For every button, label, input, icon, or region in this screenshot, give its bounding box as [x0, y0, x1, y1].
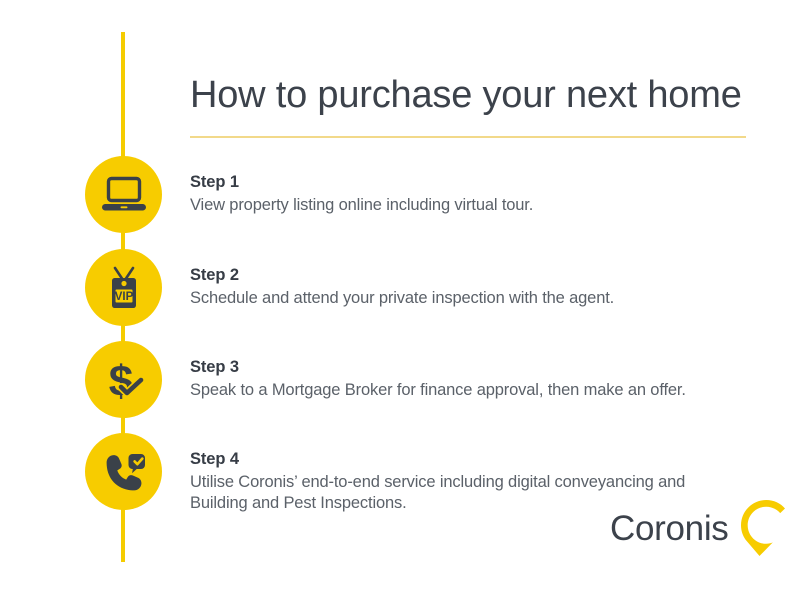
- step-3-text: Step 3 Speak to a Mortgage Broker for fi…: [190, 357, 750, 401]
- phone-check-icon: [101, 450, 147, 494]
- infographic-canvas: How to purchase your next home Step 1 Vi…: [0, 0, 800, 600]
- step-4-icon-badge: [85, 433, 162, 510]
- step-heading: Step 1: [190, 172, 750, 193]
- dollar-approval-icon: $: [101, 357, 147, 403]
- step-description: Schedule and attend your private inspect…: [190, 288, 746, 309]
- brand-wordmark: Coronis: [610, 511, 729, 546]
- vip-pass-icon: VIP: [102, 265, 146, 311]
- step-description: Speak to a Mortgage Broker for finance a…: [190, 380, 746, 401]
- step-1-text: Step 1 View property listing online incl…: [190, 172, 750, 216]
- step-2-text: Step 2 Schedule and attend your private …: [190, 265, 750, 309]
- step-2-icon-badge: VIP: [85, 249, 162, 326]
- brand-lockup: Coronis: [610, 500, 789, 556]
- step-heading: Step 4: [190, 449, 750, 470]
- step-description: View property listing online including v…: [190, 195, 746, 216]
- step-heading: Step 3: [190, 357, 750, 378]
- coronis-c-logo-icon: [741, 500, 789, 556]
- step-heading: Step 2: [190, 265, 750, 286]
- svg-text:$: $: [108, 357, 132, 403]
- vip-pass-label: VIP: [114, 291, 133, 303]
- step-1-icon-badge: [85, 156, 162, 233]
- laptop-icon: [101, 176, 147, 214]
- step-3-icon-badge: $: [85, 341, 162, 418]
